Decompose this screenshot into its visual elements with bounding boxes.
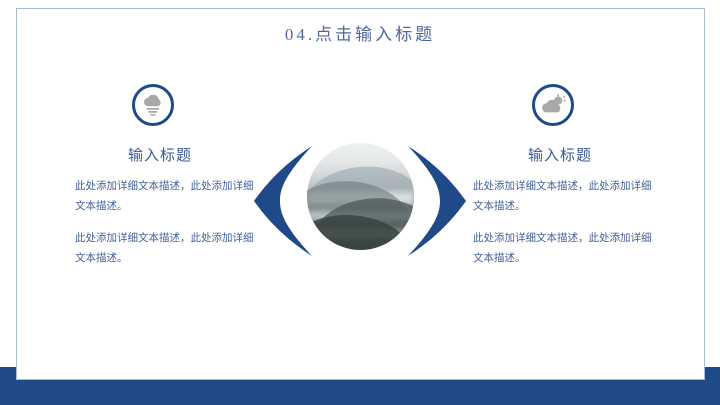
column-body: 此处添加详细文本描述，此处添加详细文本描述。 此处添加详细文本描述，此处添加详细… — [455, 177, 665, 270]
column-left: 输入标题 此处添加详细文本描述，此处添加详细文本描述。 此处添加详细文本描述，此… — [55, 84, 265, 281]
column-heading: 输入标题 — [55, 144, 265, 165]
body-paragraph: 此处添加详细文本描述，此处添加详细文本描述。 — [473, 177, 659, 218]
cloud-sun-icon — [532, 84, 574, 126]
page-title: 04.点击输入标题 — [0, 20, 720, 45]
body-paragraph: 此处添加详细文本描述，此处添加详细文本描述。 — [75, 177, 259, 218]
cloud-fog-icon — [132, 84, 174, 126]
center-eye-graphic — [252, 140, 468, 262]
slide: 04.点击输入标题 输入标题 此处添加详细文本描述，此处添加详细文本描述。 此处… — [0, 0, 720, 405]
column-right: 输入标题 此处添加详细文本描述，此处添加详细文本描述。 此处添加详细文本描述，此… — [455, 84, 665, 281]
column-heading: 输入标题 — [455, 144, 665, 165]
body-paragraph: 此处添加详细文本描述，此处添加详细文本描述。 — [75, 229, 259, 270]
body-paragraph: 此处添加详细文本描述，此处添加详细文本描述。 — [473, 229, 659, 270]
column-body: 此处添加详细文本描述，此处添加详细文本描述。 此处添加详细文本描述，此处添加详细… — [55, 177, 265, 270]
mountain-photo — [307, 143, 414, 250]
